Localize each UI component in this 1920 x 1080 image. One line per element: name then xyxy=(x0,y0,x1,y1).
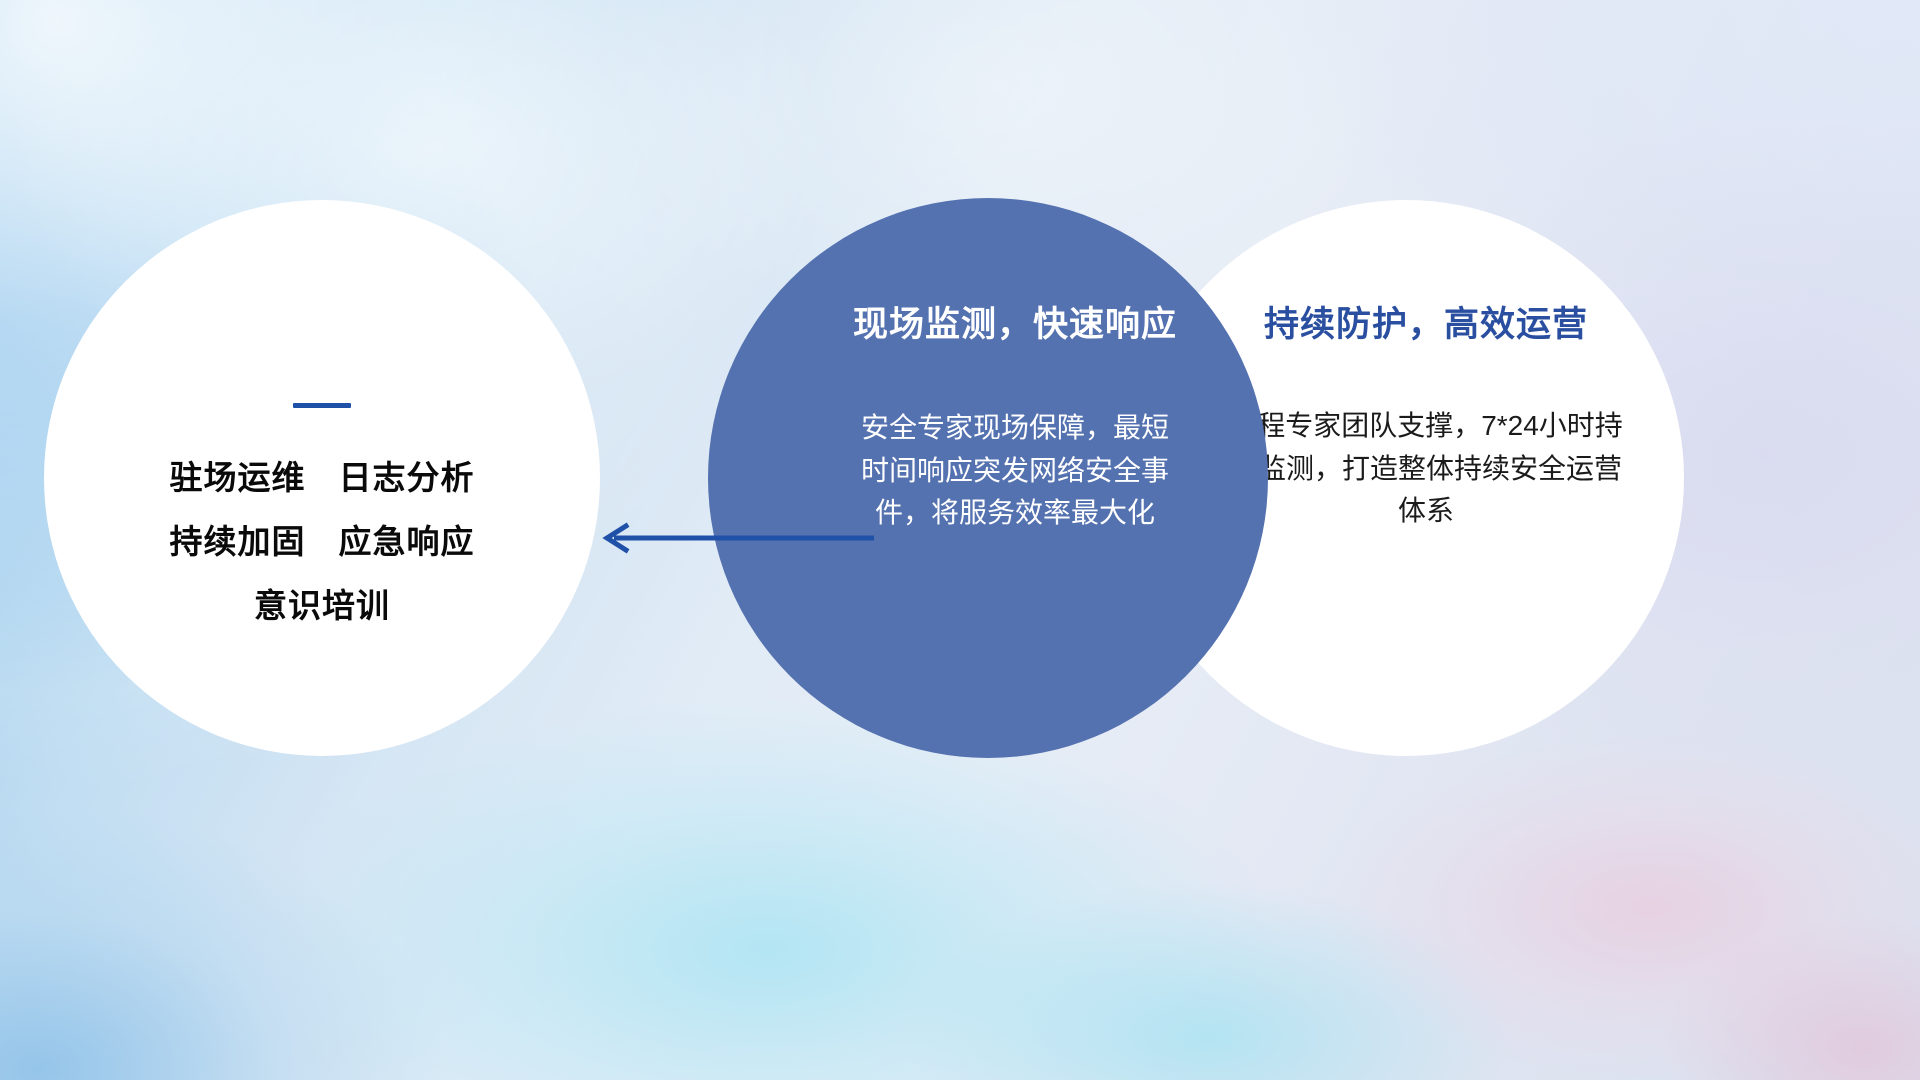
onsite-monitoring-title: 现场监测，快速响应 xyxy=(853,296,1177,347)
continuous-protection-title: 持续防护，高效运营 xyxy=(1264,296,1588,347)
capability-item[interactable]: 日志分析 xyxy=(339,461,475,494)
flow-arrow-left-icon xyxy=(596,518,876,558)
onsite-monitoring-body: 安全专家现场保障，最短时间响应突发网络安全事件，将服务效率最大化 xyxy=(855,407,1175,535)
capabilities-circle[interactable]: 驻场运维 日志分析 持续加固 应急响应 意识培训 xyxy=(44,200,600,756)
capability-row: 意识培训 xyxy=(254,589,390,622)
onsite-monitoring-content: 现场监测，快速响应 安全专家现场保障，最短时间响应突发网络安全事件，将服务效率最… xyxy=(708,198,1268,758)
divider-line-icon xyxy=(293,403,351,408)
capability-item[interactable]: 持续加固 xyxy=(170,525,306,558)
capability-row: 持续加固 应急响应 xyxy=(170,525,475,558)
slide-canvas: 驻场运维 日志分析 持续加固 应急响应 意识培训 持续防护，高效运营 远程专家团… xyxy=(0,0,1920,1080)
capability-item[interactable]: 意识培训 xyxy=(254,589,390,622)
continuous-protection-body: 远程专家团队支撑，7*24小时持续监测，打造整体持续安全运营体系 xyxy=(1221,405,1631,533)
capability-row: 驻场运维 日志分析 xyxy=(170,461,475,494)
onsite-monitoring-circle[interactable]: 现场监测，快速响应 安全专家现场保障，最短时间响应突发网络安全事件，将服务效率最… xyxy=(708,198,1268,758)
capability-item[interactable]: 驻场运维 xyxy=(170,461,306,494)
capabilities-content: 驻场运维 日志分析 持续加固 应急响应 意识培训 xyxy=(44,200,600,756)
capability-item[interactable]: 应急响应 xyxy=(339,525,475,558)
